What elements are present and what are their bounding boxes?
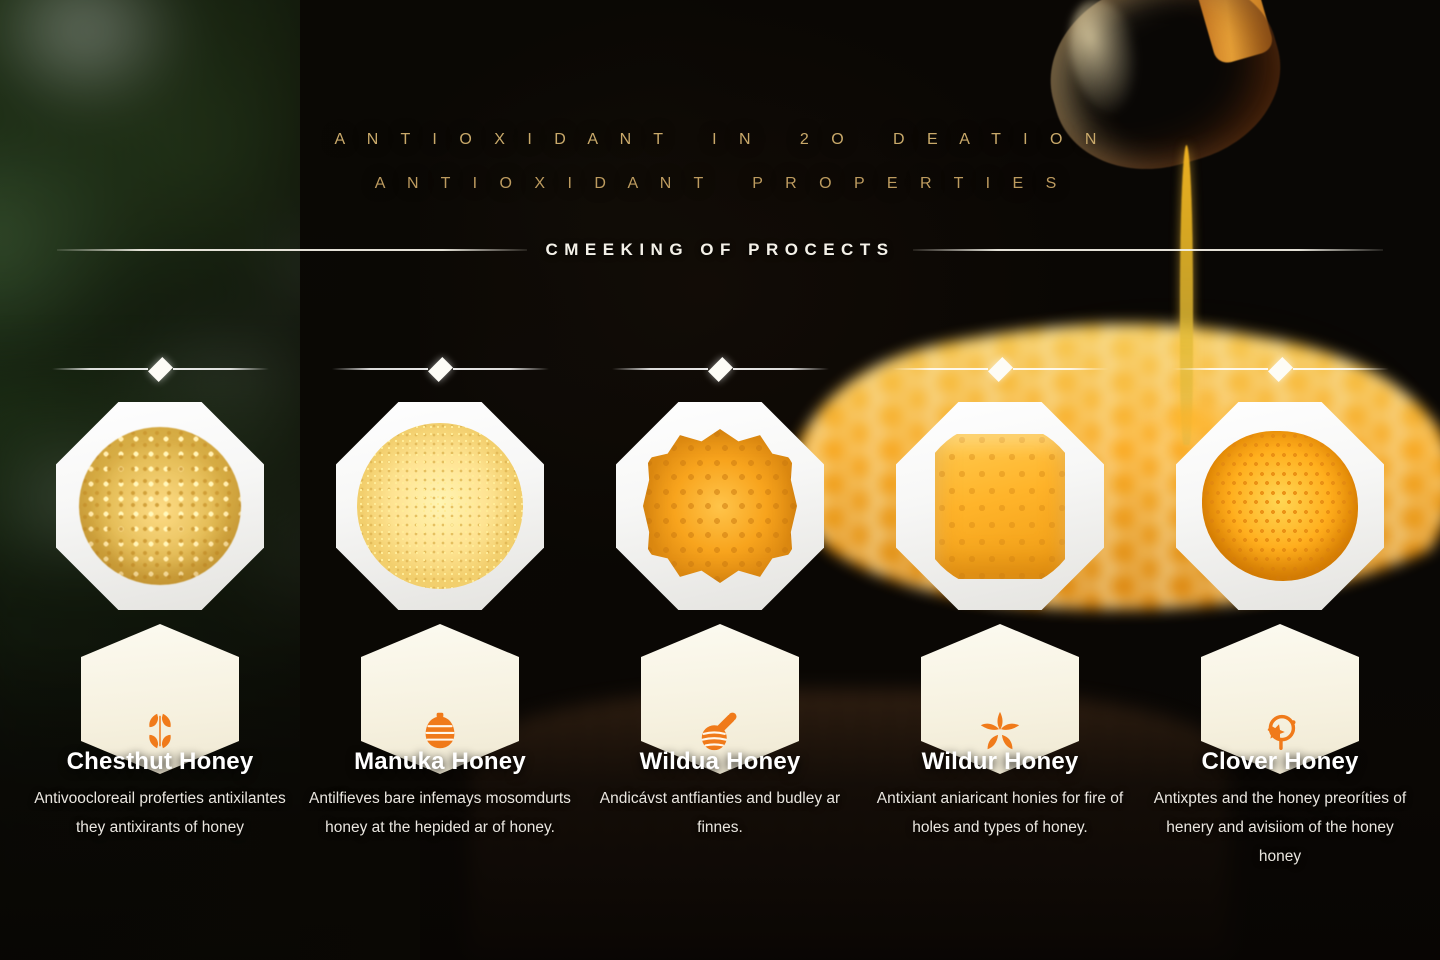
diamond-marker-icon: [1268, 357, 1293, 382]
card-description: Antivoocloreail proferties antixilantes …: [26, 784, 294, 842]
divider-segment-left: [892, 368, 988, 370]
card-title: Wildua Honey: [586, 748, 854, 776]
plate-stack: [580, 402, 860, 742]
card-title: Wildur Honey: [866, 748, 1134, 776]
divider-segment-left: [1172, 368, 1268, 370]
plate-stack: [20, 402, 300, 742]
honey-card[interactable]: [1140, 352, 1420, 742]
card-divider: [1140, 352, 1420, 386]
divider-segment-right: [733, 368, 829, 370]
header-line-primary: A N T I O X I D A N T I N 2 O D E A T I …: [0, 118, 1440, 162]
plate-inner: [356, 422, 524, 590]
diamond-marker-icon: [428, 357, 453, 382]
honey-text-block: Clover Honey Antixptes and the honey pre…: [1140, 748, 1420, 871]
poster-subtitle: CMEEKING OF PROCECTS: [545, 240, 894, 260]
poster-header: A N T I O X I D A N T I N 2 O D E A T I …: [0, 118, 1440, 206]
honey-text-block: Chesthut Honey Antivoocloreail profertie…: [20, 748, 300, 842]
card-divider: [300, 352, 580, 386]
plate-stack: [300, 402, 580, 742]
divider-segment-right: [1013, 368, 1109, 370]
subtitle-divider-row: CMEEKING OF PROCECTS: [0, 230, 1440, 270]
divider-segment-right: [173, 368, 269, 370]
honey-card[interactable]: [20, 352, 300, 742]
honey-card[interactable]: [860, 352, 1140, 742]
honeycomb-crumble-content: [79, 427, 241, 585]
honey-card-row: [0, 352, 1440, 742]
card-title: Chesthut Honey: [26, 748, 294, 776]
granulated-honey-content: [357, 423, 523, 589]
divider-line-right: [913, 249, 1383, 251]
plate-stack: [860, 402, 1140, 742]
honeycomb-block-content: [935, 434, 1065, 579]
plate-inner: [636, 422, 804, 590]
plate-stack: [1140, 402, 1420, 742]
honey-text-block: Manuka Honey Antilfieves bare infemays m…: [300, 748, 580, 842]
card-title: Manuka Honey: [306, 748, 574, 776]
divider-segment-left: [52, 368, 148, 370]
divider-segment-right: [1293, 368, 1389, 370]
card-divider: [580, 352, 860, 386]
plate-inner: [916, 422, 1084, 590]
serving-plate: [896, 402, 1104, 610]
serving-plate: [56, 402, 264, 610]
divider-segment-right: [453, 368, 549, 370]
serving-plate: [616, 402, 824, 610]
honey-card[interactable]: [300, 352, 580, 742]
card-description: Andicávst antfianties and budley ar finn…: [586, 784, 854, 842]
honey-text-block: Wildur Honey Antixiant aniaricant honies…: [860, 748, 1140, 842]
header-line-secondary: A N T I O X I D A N T P R O P E R T I E …: [0, 162, 1440, 206]
honeycomb-chunk-content: [1202, 431, 1358, 581]
card-description: Antilfieves bare infemays mosomdurts hon…: [306, 784, 574, 842]
card-divider: [20, 352, 300, 386]
divider-line-left: [57, 249, 527, 251]
serving-plate: [1176, 402, 1384, 610]
diamond-marker-icon: [708, 357, 733, 382]
honey-text-block: Wildua Honey Andicávst antfianties and b…: [580, 748, 860, 842]
card-description: Antixptes and the honey preoríties of he…: [1146, 784, 1414, 871]
plate-inner: [76, 422, 244, 590]
honey-text-row: Chesthut Honey Antivoocloreail profertie…: [0, 748, 1440, 871]
divider-segment-left: [332, 368, 428, 370]
plate-inner: [1196, 422, 1364, 590]
diamond-marker-icon: [988, 357, 1013, 382]
card-description: Antixiant aniaricant honies for fire of …: [866, 784, 1134, 842]
serving-plate: [336, 402, 544, 610]
poster-canvas: A N T I O X I D A N T I N 2 O D E A T I …: [0, 0, 1440, 960]
round-honeycomb-content: [643, 429, 797, 583]
divider-segment-left: [612, 368, 708, 370]
diamond-marker-icon: [148, 357, 173, 382]
honey-card[interactable]: [580, 352, 860, 742]
card-title: Clover Honey: [1146, 748, 1414, 776]
card-divider: [860, 352, 1140, 386]
